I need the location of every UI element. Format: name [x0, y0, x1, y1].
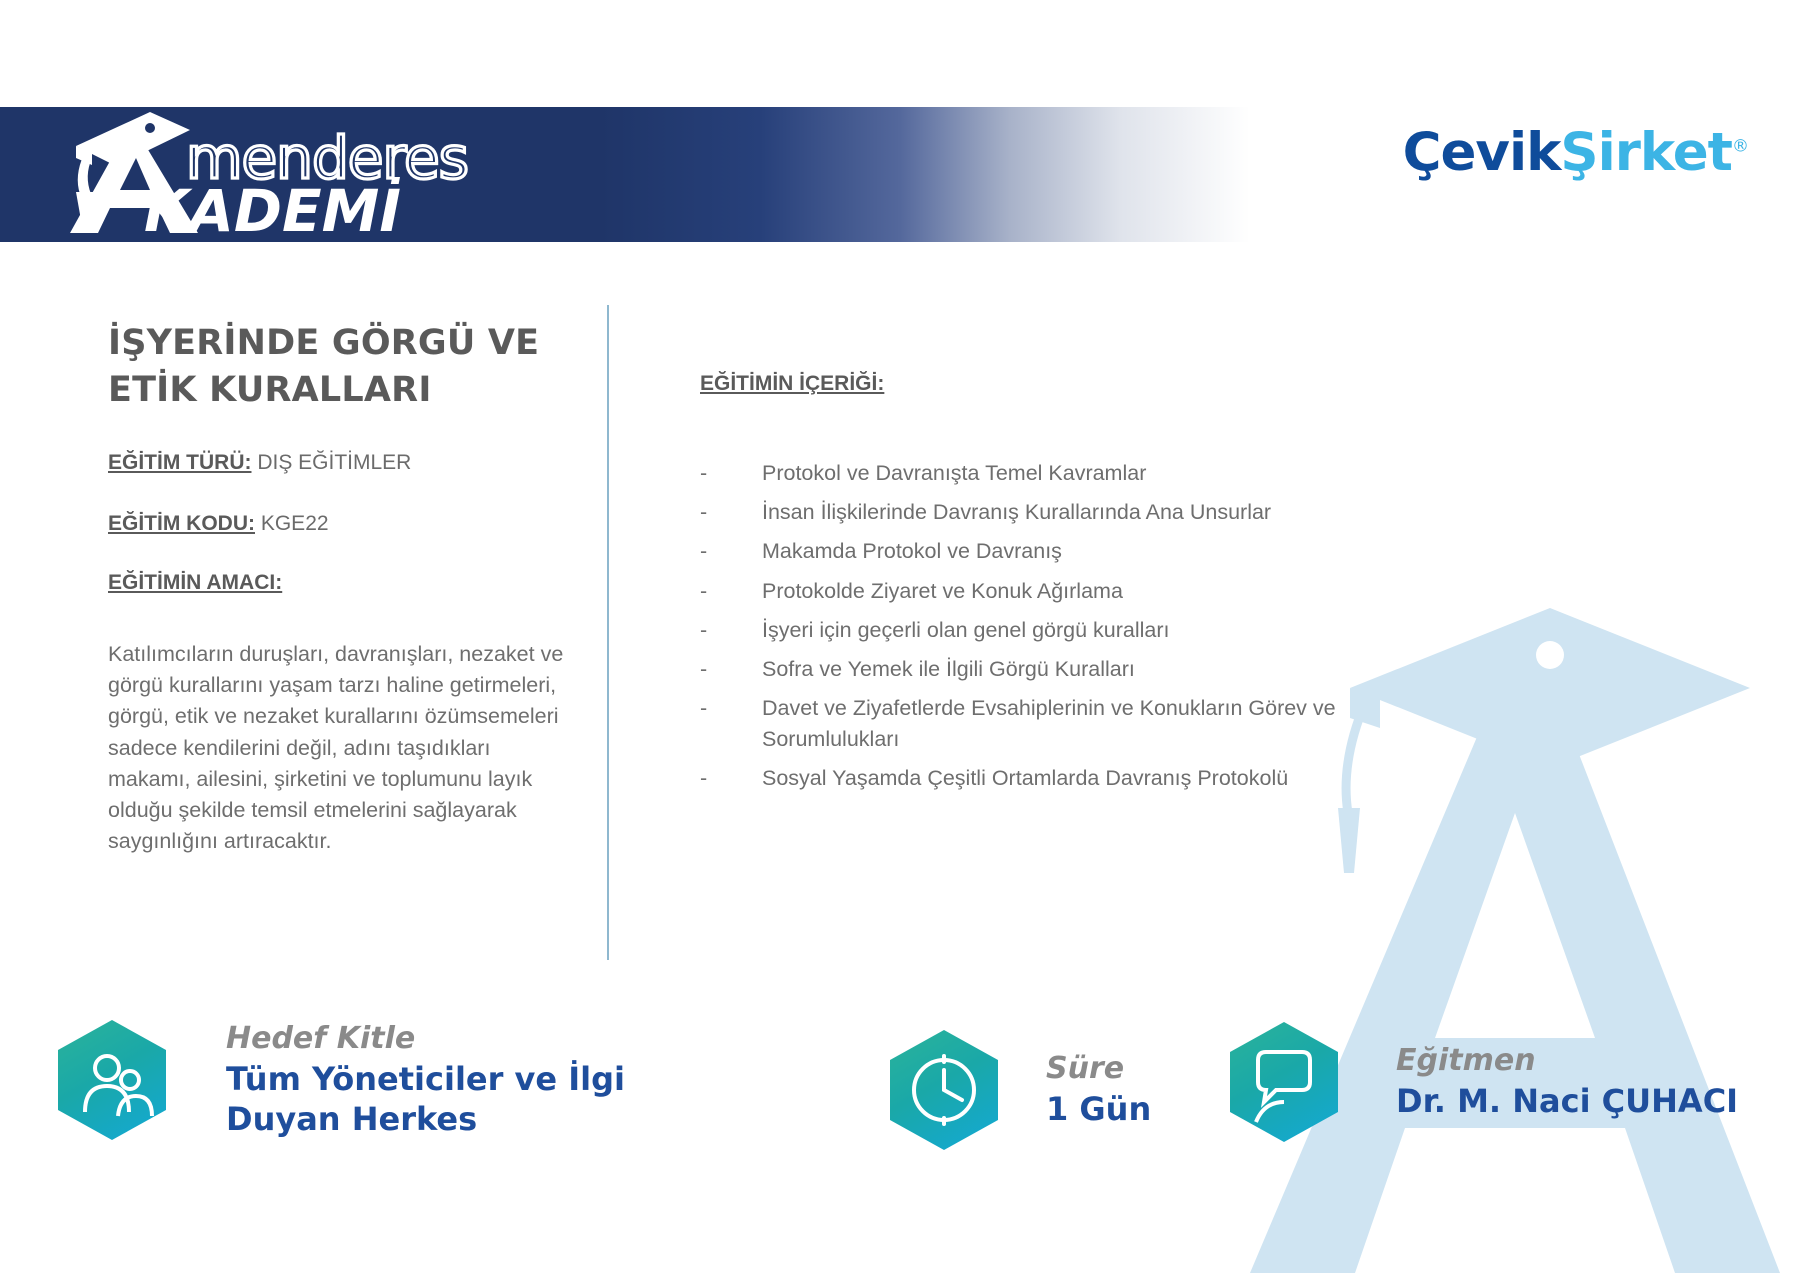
badge-caption: Eğitmen — [1396, 1044, 1738, 1077]
list-item-label: Protokol ve Davranışta Temel Kavramlar — [762, 461, 1146, 485]
list-item: -Protokol ve Davranışta Temel Kavramlar — [700, 458, 1442, 489]
badge-text-group: Hedef Kitle Tüm Yöneticiler ve İlgi Duya… — [192, 1022, 712, 1139]
badge-text-group: Süre 1 Gün — [1022, 1052, 1151, 1129]
list-item: -Makamda Protokol ve Davranış — [700, 536, 1442, 567]
bullet-marker: - — [700, 497, 707, 528]
list-item: -Sofra ve Yemek ile İlgili Görgü Kuralla… — [700, 654, 1442, 685]
cevik-sirket-logo: ÇevikŞirket® — [1403, 122, 1748, 183]
list-item: -Protokolde Ziyaret ve Konuk Ağırlama — [700, 576, 1442, 607]
badge-value: Dr. M. Naci ÇUHACI — [1396, 1081, 1738, 1121]
badge-text-group: Eğitmen Dr. M. Naci ÇUHACI — [1362, 1044, 1738, 1121]
badge-value: 1 Gün — [1046, 1089, 1151, 1129]
badge-caption: Hedef Kitle — [226, 1022, 712, 1055]
header-top-spacer — [0, 0, 1800, 107]
speech-bubble-icon — [1230, 1022, 1338, 1142]
hexagon-shape — [1230, 1022, 1338, 1142]
bullet-marker: - — [700, 654, 707, 685]
bullet-marker: - — [700, 763, 707, 794]
bullet-marker: - — [700, 615, 707, 646]
course-content-list: -Protokol ve Davranışta Temel Kavramlar-… — [700, 458, 1440, 795]
menderes-akademi-logo: menderes KADEMİ — [58, 98, 478, 233]
bullet-marker: - — [700, 536, 707, 567]
list-item: -İnsan İlişkilerinde Davranış Kuralların… — [700, 497, 1442, 528]
list-item-label: Sosyal Yaşamda Çeşitli Ortamlarda Davran… — [762, 766, 1288, 790]
badge-sure: Süre 1 Gün — [890, 1030, 1151, 1150]
clock-icon — [890, 1030, 998, 1150]
svg-text:KADEMİ: KADEMİ — [144, 176, 401, 233]
badge-egitmen: Eğitmen Dr. M. Naci ÇUHACI — [1230, 1022, 1738, 1142]
course-info-column: İŞYERİNDE GÖRGÜ VE ETİK KURALLARI EĞİTİM… — [108, 320, 608, 857]
header-bottom-spacer — [0, 242, 1800, 262]
course-code-value: KGE22 — [261, 512, 329, 535]
bullet-marker: - — [700, 693, 707, 724]
registered-trademark-icon: ® — [1732, 136, 1748, 156]
hexagon-shape — [890, 1030, 998, 1150]
list-item: -İşyeri için geçerli olan genel görgü ku… — [700, 615, 1442, 646]
page-title: İŞYERİNDE GÖRGÜ VE ETİK KURALLARI — [108, 320, 608, 415]
list-item-label: İşyeri için geçerli olan genel görgü kur… — [762, 618, 1170, 642]
list-item-label: Davet ve Ziyafetlerde Evsahiplerinin ve … — [762, 696, 1336, 751]
course-type-label: EĞİTİM TÜRÜ: — [108, 451, 251, 474]
course-code-row: EĞİTİM KODU: KGE22 — [108, 510, 608, 537]
bullet-marker: - — [700, 576, 707, 607]
list-item: -Davet ve Ziyafetlerde Evsahiplerinin ve… — [700, 693, 1442, 755]
cevik-sirket-logo-part1: Çevik — [1403, 122, 1561, 183]
list-item-label: Protokolde Ziyaret ve Konuk Ağırlama — [762, 579, 1123, 603]
course-code-label: EĞİTİM KODU: — [108, 512, 255, 535]
bullet-marker: - — [700, 458, 707, 489]
course-type-row: EĞİTİM TÜRÜ: DIŞ EĞİTİMLER — [108, 449, 608, 476]
course-purpose-text: Katılımcıların duruşları, davranışları, … — [108, 639, 568, 857]
list-item: -Sosyal Yaşamda Çeşitli Ortamlarda Davra… — [700, 763, 1442, 794]
course-content-label: EĞİTİMİN İÇERİĞİ: — [700, 372, 1440, 396]
list-item-label: Makamda Protokol ve Davranış — [762, 539, 1062, 563]
badge-caption: Süre — [1046, 1052, 1151, 1085]
course-type-value: DIŞ EĞİTİMLER — [257, 451, 411, 474]
hexagon-shape — [58, 1020, 166, 1140]
list-item-label: Sofra ve Yemek ile İlgili Görgü Kurallar… — [762, 657, 1135, 681]
list-item-label: İnsan İlişkilerinde Davranış Kurallarınd… — [762, 500, 1271, 524]
badge-value: Tüm Yöneticiler ve İlgi Duyan Herkes — [226, 1059, 712, 1139]
person-icon — [58, 1020, 166, 1140]
badge-hedef-kitle: Hedef Kitle Tüm Yöneticiler ve İlgi Duya… — [58, 1020, 712, 1140]
course-content-column: EĞİTİMİN İÇERİĞİ: -Protokol ve Davranışt… — [700, 372, 1440, 803]
course-purpose-label: EĞİTİMİN AMACI: — [108, 571, 608, 595]
cevik-sirket-logo-part2: Şirket — [1560, 122, 1732, 183]
